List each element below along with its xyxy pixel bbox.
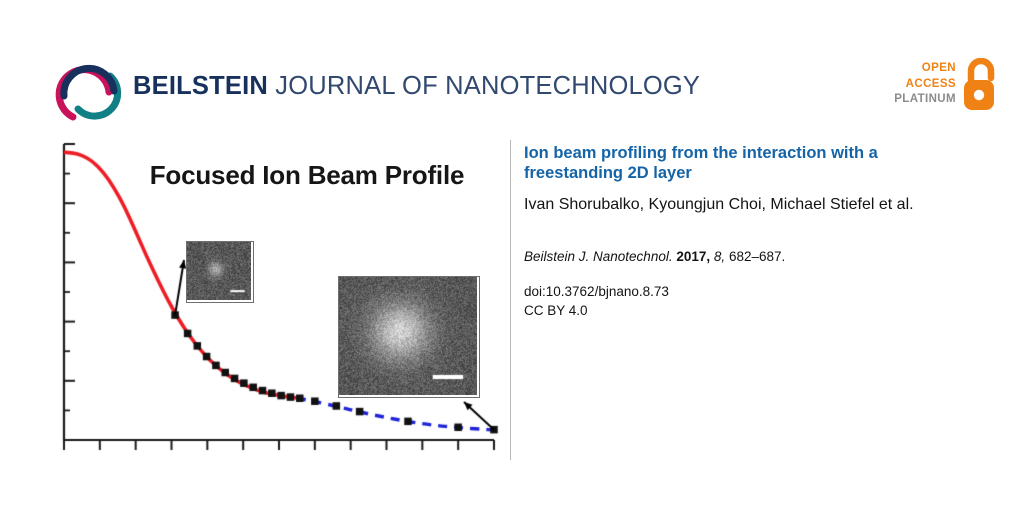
citation-year: 2017, [676,249,710,264]
oa-line-access: ACCESS [866,77,956,93]
open-access-badge: OPEN ACCESS PLATINUM [872,58,1002,120]
open-access-text: OPEN ACCESS PLATINUM [866,61,956,108]
open-padlock-icon [960,58,1002,114]
article-license: CC BY 4.0 [524,301,968,320]
journal-header: BEILSTEIN JOURNAL OF NANOTECHNOLOGY OPEN… [0,0,1024,140]
article-title: Ion beam profiling from the interaction … [524,143,968,183]
wordmark-light: JOURNAL OF NANOTECHNOLOGY [275,72,700,100]
focused-ion-beam-chart: Focused Ion Beam Profile [44,140,499,465]
graphical-abstract-page: BEILSTEIN JOURNAL OF NANOTECHNOLOGY OPEN… [0,0,1024,512]
article-doi[interactable]: doi:10.3762/bjnano.8.73 [524,282,968,301]
sem-inset-small [186,241,254,303]
citation-journal: Beilstein J. Nanotechnol. [524,249,673,264]
chart-title: Focused Ion Beam Profile [122,160,492,191]
citation-volume: 8, [714,249,725,264]
article-authors: Ivan Shorubalko, Kyoungjun Choi, Michael… [524,192,968,217]
panel-divider [510,140,511,460]
wordmark-bold: BEILSTEIN [133,72,268,100]
citation-pages: 682–687. [729,249,785,264]
article-identifiers: doi:10.3762/bjnano.8.73 CC BY 4.0 [524,282,968,320]
beilstein-circles-logo [52,56,126,124]
journal-wordmark: BEILSTEIN JOURNAL OF NANOTECHNOLOGY [133,72,700,101]
sem-inset-large [338,276,480,398]
article-citation: Beilstein J. Nanotechnol. 2017, 8, 682–6… [524,247,968,266]
article-metadata: Ion beam profiling from the interaction … [524,143,968,320]
oa-line-platinum: PLATINUM [866,92,956,108]
oa-line-open: OPEN [866,61,956,77]
